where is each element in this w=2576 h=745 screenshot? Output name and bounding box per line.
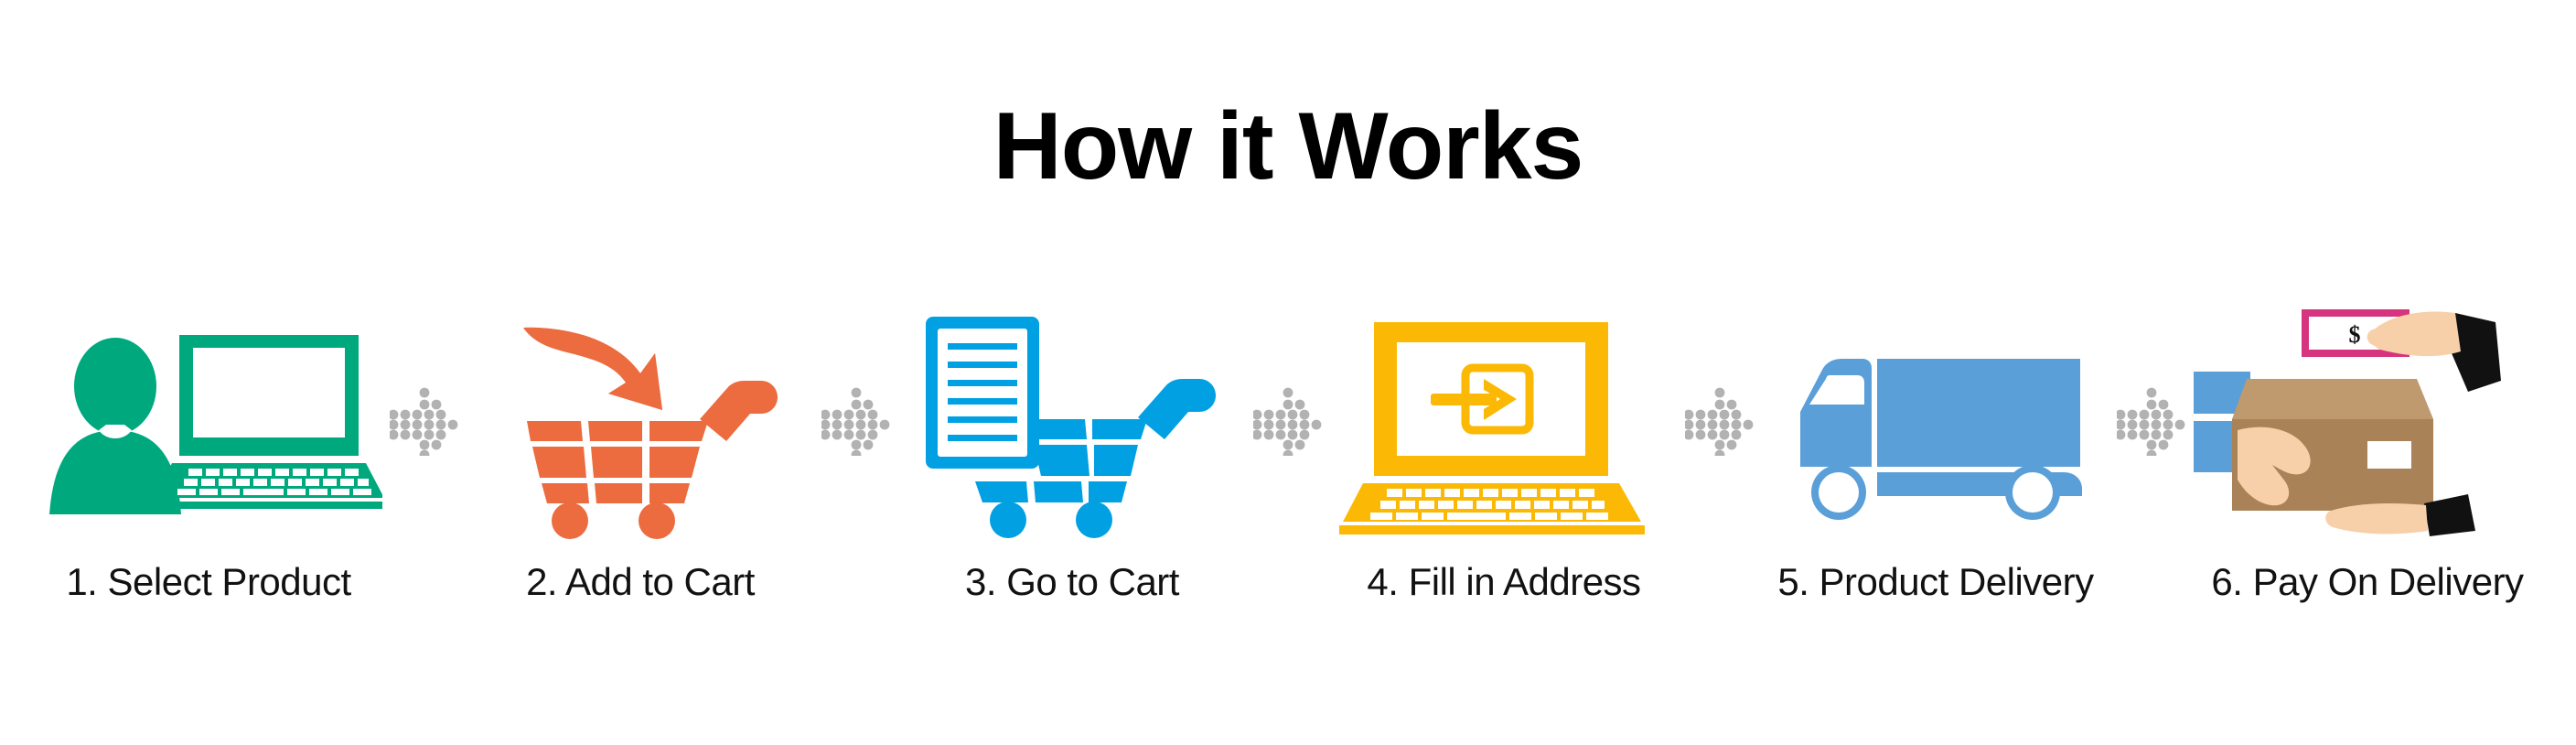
person-laptop-icon-box (35, 302, 382, 540)
step-go-to-cart[interactable]: 3. Go to Cart (898, 302, 1246, 604)
dotted-arrow-icon (1685, 386, 1755, 456)
how-it-works-infographic: How it Works (0, 0, 2576, 745)
document-cart-icon-box (898, 302, 1246, 540)
step-label-pay-on-delivery: 6. Pay On Delivery (2211, 560, 2523, 604)
separator-1 (382, 302, 467, 540)
person-laptop-icon (35, 302, 382, 540)
cart-arrow-icon-box (467, 302, 814, 540)
step-pay-on-delivery[interactable]: $ (2194, 302, 2541, 604)
step-add-to-cart[interactable]: 2. Add to Cart (467, 302, 814, 604)
laptop-login-icon-box (1330, 302, 1678, 540)
hands-box-money-icon: $ (2194, 300, 2541, 540)
separator-4 (1678, 302, 1762, 540)
step-select-product[interactable]: 1. Select Product (35, 302, 382, 604)
delivery-truck-icon (1762, 302, 2109, 540)
step-label-go-to-cart: 3. Go to Cart (965, 560, 1179, 604)
step-fill-in-address[interactable]: 4. Fill in Address (1330, 302, 1678, 604)
dotted-arrow-icon (390, 386, 459, 456)
document-cart-icon (898, 302, 1246, 540)
delivery-truck-icon-box (1762, 302, 2109, 540)
separator-2 (814, 302, 898, 540)
separator-3 (1246, 302, 1330, 540)
cart-arrow-icon (467, 302, 814, 540)
step-product-delivery[interactable]: 5. Product Delivery (1762, 302, 2109, 604)
dotted-arrow-icon (1253, 386, 1323, 456)
money-dollar-symbol: $ (2349, 321, 2361, 348)
page-title: How it Works (0, 99, 2576, 194)
separator-5 (2109, 302, 2194, 540)
step-label-select-product: 1. Select Product (66, 560, 350, 604)
steps-row: 1. Select Product (0, 302, 2576, 668)
hands-box-money-icon-box: $ (2194, 302, 2541, 540)
step-label-add-to-cart: 2. Add to Cart (526, 560, 755, 604)
dotted-arrow-icon (821, 386, 891, 456)
dotted-arrow-icon (2117, 386, 2186, 456)
step-label-product-delivery: 5. Product Delivery (1777, 560, 2093, 604)
laptop-login-icon (1330, 302, 1678, 540)
step-label-fill-in-address: 4. Fill in Address (1367, 560, 1640, 604)
